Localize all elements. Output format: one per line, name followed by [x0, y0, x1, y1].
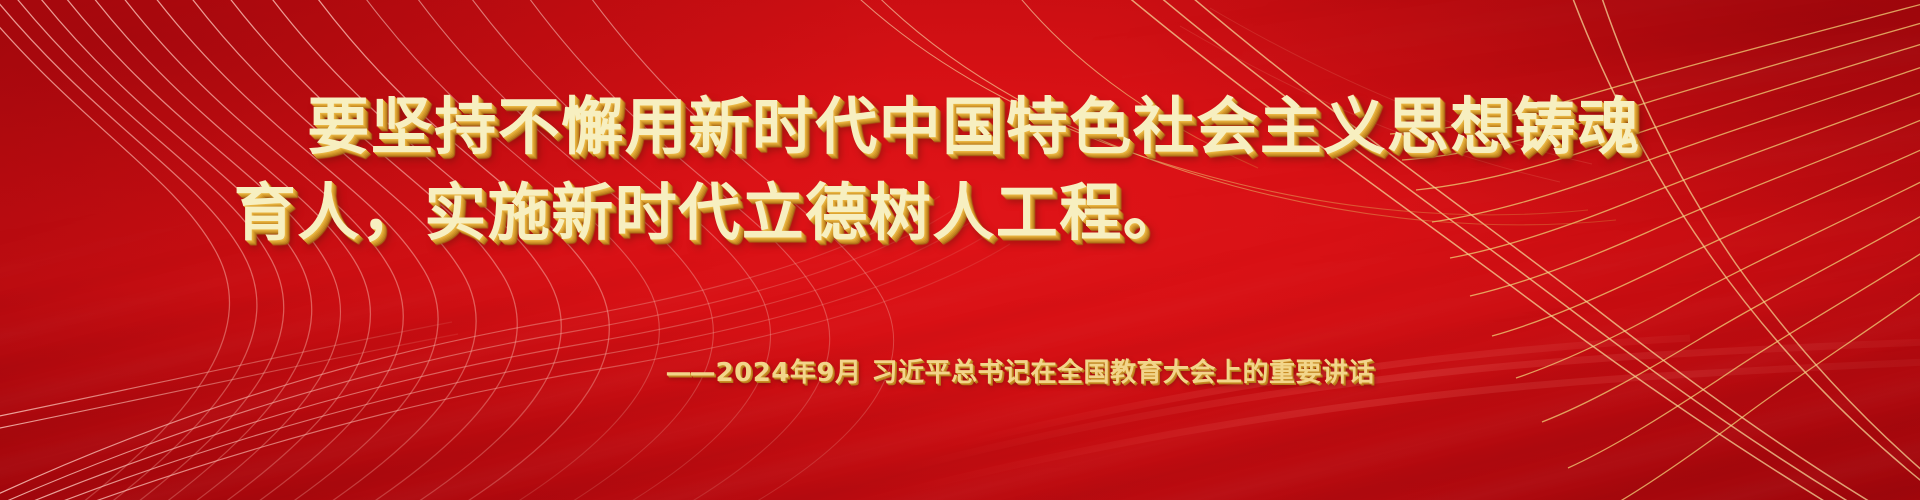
attribution-dash: —— [666, 358, 714, 388]
headline-line-1: 要坚持不懈用新时代中国特色社会主义思想铸魂 [0, 96, 1920, 158]
attribution-date: 2024年9月 [716, 358, 862, 388]
attribution-line: ——2024年9月习近平总书记在全国教育大会上的重要讲话 [666, 352, 1375, 389]
slogan-banner: 要坚持不懈用新时代中国特色社会主义思想铸魂 育人，实施新时代立德树人工程。 ——… [0, 0, 1920, 500]
headline-line-2: 育人，实施新时代立德树人工程。 [0, 182, 1920, 244]
attribution-source: 习近平总书记在全国教育大会上的重要讲话 [871, 358, 1375, 388]
headline-block: 要坚持不懈用新时代中国特色社会主义思想铸魂 育人，实施新时代立德树人工程。 [0, 96, 1920, 244]
banner-content: 要坚持不懈用新时代中国特色社会主义思想铸魂 育人，实施新时代立德树人工程。 ——… [0, 0, 1920, 500]
